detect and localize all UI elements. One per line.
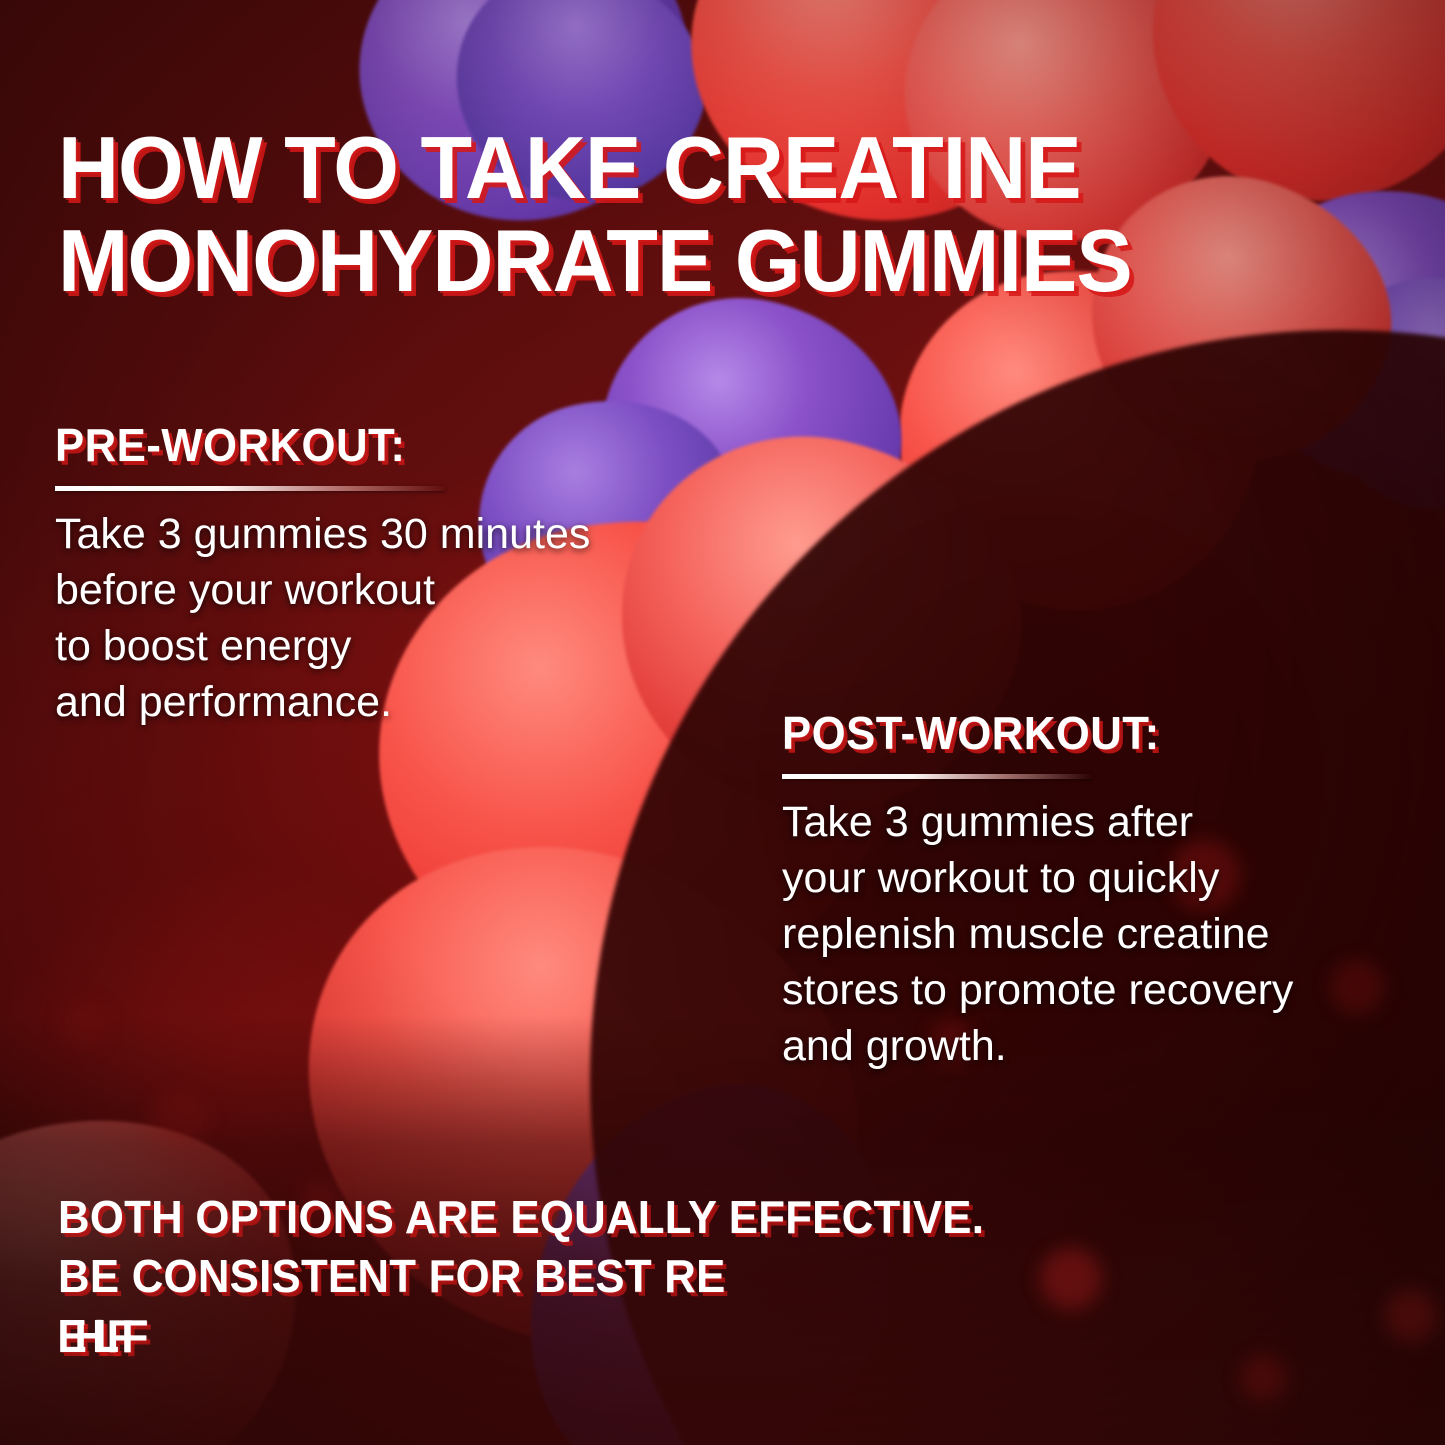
pre-workout-section: PRE-WORKOUT: Take 3 gummies 30 minutes b… bbox=[55, 418, 755, 731]
post-workout-body-line: replenish muscle creatine bbox=[782, 907, 1422, 963]
post-workout-divider bbox=[782, 774, 1092, 779]
page-title-line-1: HOW TO TAKE CREATINE bbox=[58, 118, 1081, 217]
page-title-line-2: MONOHYDRATE GUMMIES bbox=[58, 214, 1306, 307]
footer-line-2-garbled-text: EH'LFF bbox=[57, 1307, 136, 1367]
pre-workout-divider bbox=[55, 486, 445, 491]
post-workout-body-line: Take 3 gummies after bbox=[782, 795, 1422, 851]
pre-workout-body-line: Take 3 gummies 30 minutes bbox=[55, 507, 755, 563]
pre-workout-heading: PRE-WORKOUT: bbox=[55, 418, 720, 472]
post-workout-section: POST-WORKOUT: Take 3 gummies after your … bbox=[782, 706, 1422, 1074]
pre-workout-body: Take 3 gummies 30 minutes before your wo… bbox=[55, 507, 755, 731]
post-workout-heading: POST-WORKOUT: bbox=[782, 706, 1390, 760]
footer-line-1: BOTH OPTIONS ARE EQUALLY EFFECTIVE. bbox=[58, 1188, 984, 1248]
post-workout-body: Take 3 gummies after your workout to qui… bbox=[782, 795, 1422, 1074]
post-workout-body-line: your workout to quickly bbox=[782, 851, 1422, 907]
footer-line-2-prefix: BE CONSISTENT FOR BEST RE bbox=[58, 1247, 984, 1307]
creatine-gummies-infographic: HOW TO TAKE CREATINE MONOHYDRATE GUMMIES… bbox=[0, 0, 1445, 1445]
footer-line-2: BE CONSISTENT FOR BEST REEH'LFF bbox=[58, 1247, 984, 1367]
post-workout-body-line: stores to promote recovery bbox=[782, 963, 1422, 1019]
pre-workout-body-line: to boost energy bbox=[55, 619, 755, 675]
page-title: HOW TO TAKE CREATINE MONOHYDRATE GUMMIES bbox=[58, 121, 1306, 308]
pre-workout-body-line: and performance. bbox=[55, 675, 755, 731]
pre-workout-body-line: before your workout bbox=[55, 563, 755, 619]
footer-note: BOTH OPTIONS ARE EQUALLY EFFECTIVE. BE C… bbox=[58, 1188, 984, 1367]
post-workout-body-line: and growth. bbox=[782, 1019, 1422, 1075]
